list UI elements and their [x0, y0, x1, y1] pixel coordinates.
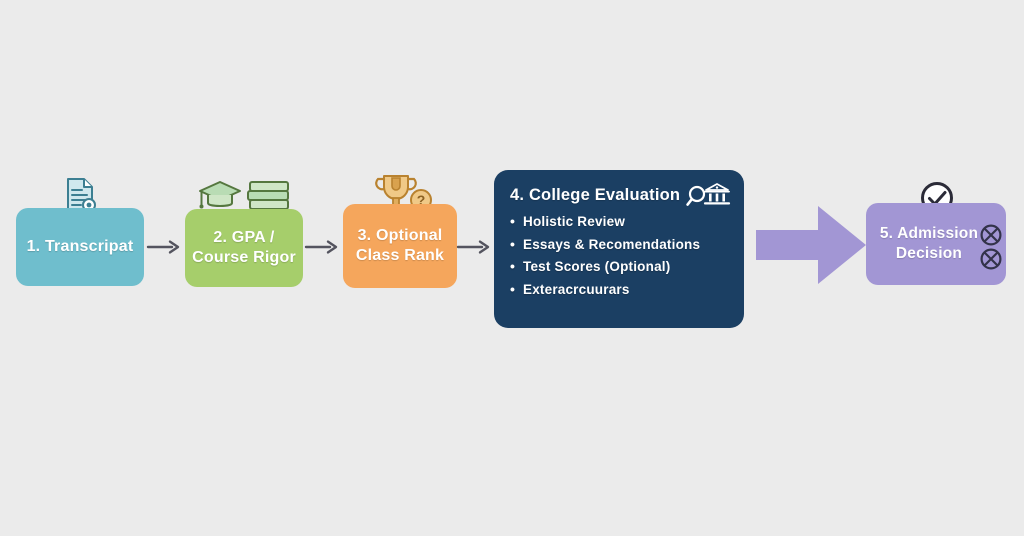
evaluation-bullet-list: Holistic Review Essays & Recomendations …	[510, 215, 700, 305]
step-label-gpa-line2: Course Rigor	[192, 248, 296, 268]
big-arrow-to-decision	[756, 200, 868, 290]
magnifier-bank-icon	[686, 182, 732, 208]
decision-text-block: 5. Admission Decision	[880, 224, 992, 264]
step-label-rank-line1: 3. Optional	[358, 226, 443, 246]
connector-arrow-2	[304, 237, 340, 257]
step-label-rank-line2: Class Rank	[356, 246, 444, 266]
step-label-decision-line2: Decision	[880, 244, 978, 264]
step-box-transcript[interactable]: 1. Transcripat	[16, 208, 144, 286]
x-circle-icon-top	[982, 226, 1001, 245]
evaluation-bullet-item: Test Scores (Optional)	[510, 260, 700, 274]
step-box-college-evaluation[interactable]: 4. College Evaluation Holistic	[494, 170, 744, 328]
connector-arrow-3	[456, 237, 492, 257]
step-label-gpa-line1: 2. GPA /	[213, 228, 274, 248]
step-label-decision-line1: 5. Admission	[880, 224, 978, 244]
evaluation-title: 4. College Evaluation	[510, 185, 680, 205]
step-box-gpa[interactable]: 2. GPA / Course Rigor	[185, 209, 303, 287]
evaluation-bullet-item: Essays & Recomendations	[510, 238, 700, 252]
evaluation-title-row: 4. College Evaluation	[510, 182, 732, 208]
step-box-class-rank[interactable]: 3. Optional Class Rank	[343, 204, 457, 288]
x-circle-icon-bottom	[982, 250, 1001, 269]
connector-arrow-1	[146, 237, 182, 257]
x-circle-icon-group	[979, 224, 1003, 272]
evaluation-bullet-item: Holistic Review	[510, 215, 700, 229]
flowchart-canvas: 1. Transcripat 2. GPA / Course Rigor	[0, 0, 1024, 536]
step-label-transcript: 1. Transcripat	[27, 237, 134, 257]
evaluation-bullet-item: Exteracrcuurars	[510, 283, 700, 297]
